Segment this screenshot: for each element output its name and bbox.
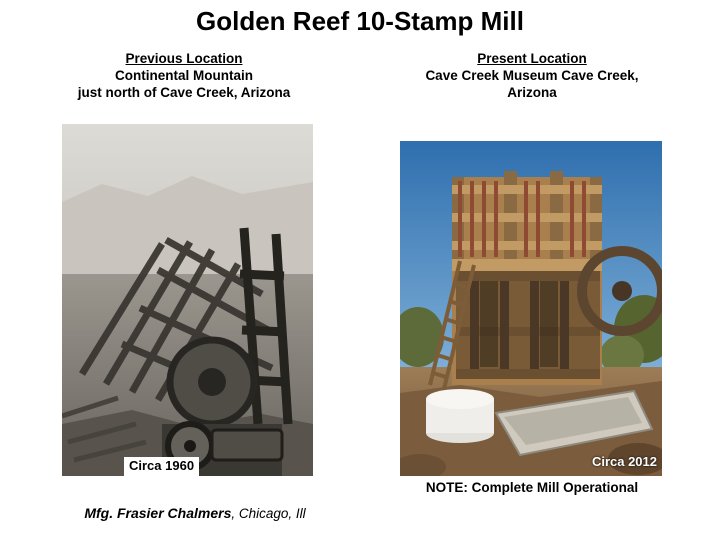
historic-mill-photo: Circa 1960 bbox=[62, 124, 313, 476]
restored-mill-photo: Circa 2012 bbox=[400, 141, 662, 476]
left-heading-line3: just north of Cave Creek, Arizona bbox=[34, 84, 334, 101]
historic-mill-photo-graphic bbox=[62, 124, 313, 476]
right-heading-line1: Present Location bbox=[392, 50, 672, 67]
left-photo-caption: Circa 1960 bbox=[124, 457, 199, 476]
manufacturer-location: , Chicago, Ill bbox=[231, 506, 305, 521]
right-heading-line2: Cave Creek Museum Cave Creek, bbox=[392, 67, 672, 84]
left-heading-line1: Previous Location bbox=[34, 50, 334, 67]
right-photo-caption: Circa 2012 bbox=[587, 453, 662, 472]
manufacturer-footer: Mfg. Frasier Chalmers, Chicago, Ill bbox=[30, 505, 360, 521]
left-column-heading: Previous Location Continental Mountain j… bbox=[34, 50, 334, 101]
right-heading-line3: Arizona bbox=[392, 84, 672, 101]
page-title: Golden Reef 10-Stamp Mill bbox=[0, 6, 720, 37]
right-column-heading: Present Location Cave Creek Museum Cave … bbox=[392, 50, 672, 101]
manufacturer-name: Mfg. Frasier Chalmers bbox=[84, 505, 231, 521]
left-heading-line2: Continental Mountain bbox=[34, 67, 334, 84]
slide-canvas: Golden Reef 10-Stamp Mill Previous Locat… bbox=[0, 0, 720, 540]
restored-mill-photo-graphic bbox=[400, 141, 662, 476]
operational-note: NOTE: Complete Mill Operational bbox=[392, 480, 672, 495]
